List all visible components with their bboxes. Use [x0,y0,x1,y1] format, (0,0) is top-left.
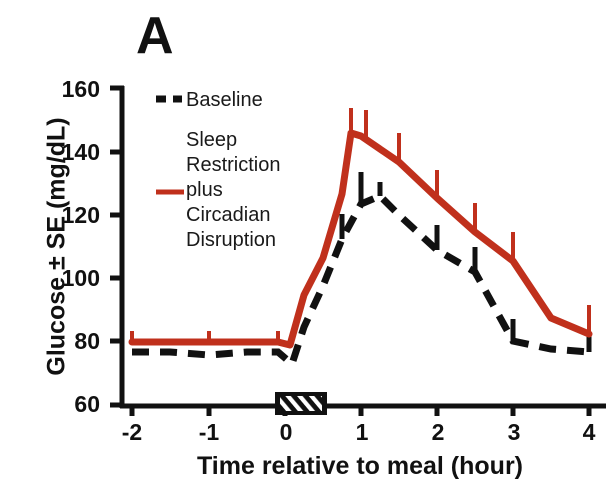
series-sleep-restriction-circadian-disruption [132,108,589,345]
meal-bar-icon [275,392,327,415]
chart-canvas [0,0,614,492]
error-bars-baseline [342,172,589,352]
error-bars-srcd [132,108,589,342]
figure-panel-a: A Glucose ± SE (mg/dL) Time relative to … [0,0,614,492]
